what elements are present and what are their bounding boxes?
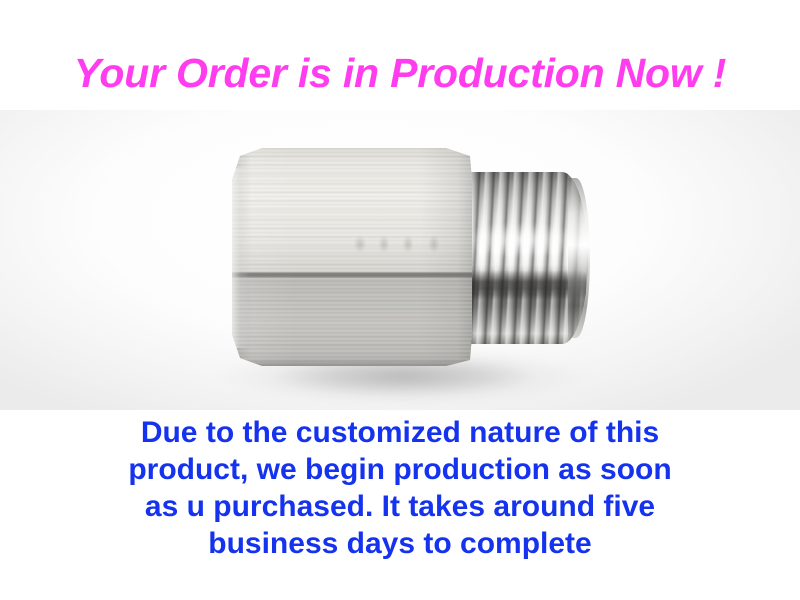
hex-left-chamfer-highlight	[232, 168, 250, 348]
body-copy-line: Due to the customized nature of this	[0, 414, 800, 451]
product-photo	[0, 110, 800, 410]
thread-tip-face	[568, 178, 590, 338]
thread-shadow-band	[457, 270, 586, 300]
body-copy-line: business days to complete	[0, 525, 800, 562]
headline-text: Your Order is in Production Now !	[0, 50, 800, 97]
body-copy-line: as u purchased. It takes around five	[0, 488, 800, 525]
body-copy: Due to the customized nature of this pro…	[0, 414, 800, 562]
thread-highlight	[461, 222, 581, 258]
body-copy-line: product, we begin production as soon	[0, 451, 800, 488]
hex-stamped-marking	[350, 228, 460, 262]
hex-bottom-edge-shadow	[238, 358, 466, 368]
male-threaded-end	[455, 172, 588, 344]
hex-nut-body	[232, 146, 472, 368]
promo-banner: Your Order is in Production Now !	[0, 0, 800, 600]
hex-pipe-adapter-fitting	[0, 110, 800, 410]
